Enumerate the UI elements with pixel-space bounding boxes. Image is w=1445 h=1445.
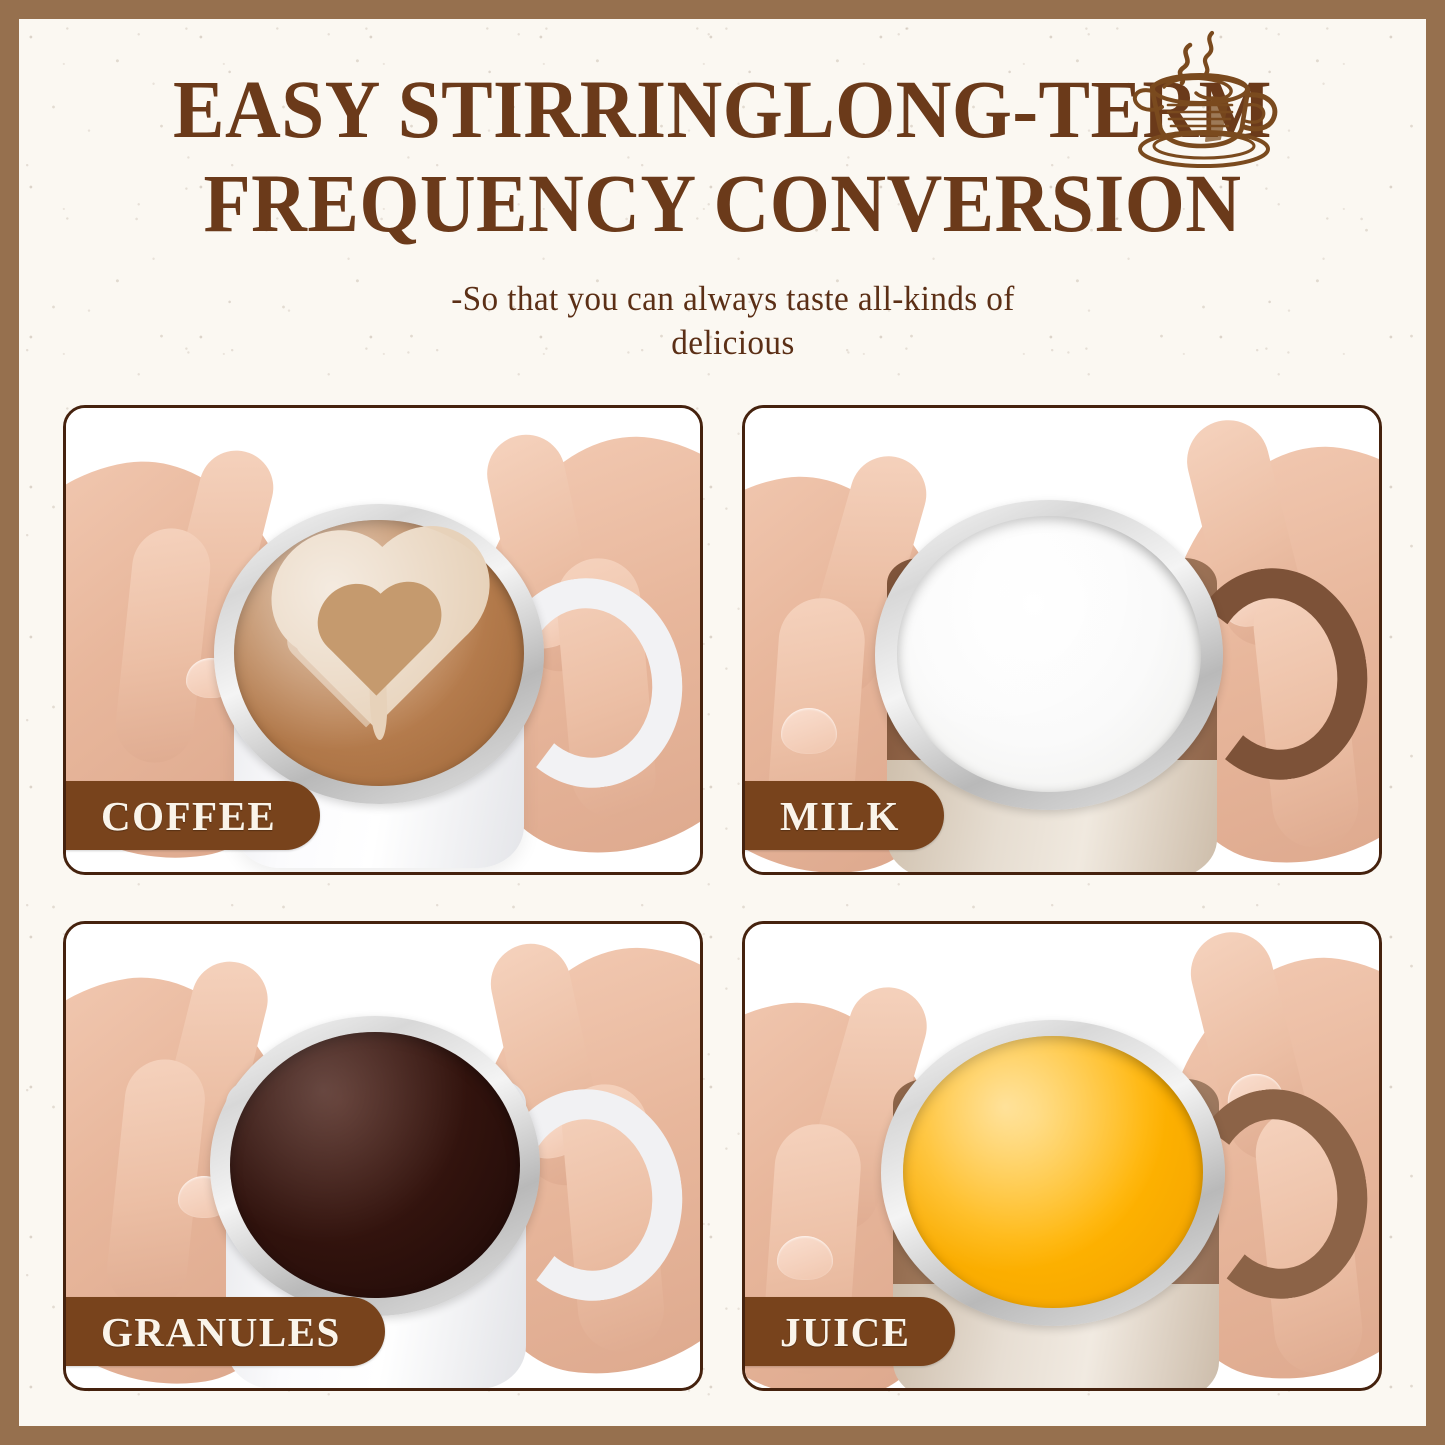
mug-liquid-surface <box>230 1032 520 1298</box>
badge-label: JUICE <box>780 1308 911 1356</box>
mug-liquid-surface <box>897 516 1201 792</box>
badge-label: MILK <box>780 792 900 840</box>
subtitle: -So that you can always taste all-kinds … <box>391 277 1075 365</box>
mug-liquid-surface <box>234 520 524 786</box>
badge-label: GRANULES <box>101 1308 341 1356</box>
feature-card-coffee[interactable]: COFFEE <box>63 405 703 875</box>
fingernail <box>781 708 837 754</box>
mug-liquid-surface <box>903 1036 1203 1308</box>
subtitle-wrapper: -So that you can always taste all-kinds … <box>19 277 1426 365</box>
feature-card-milk[interactable]: MILK <box>742 405 1382 875</box>
status-badge: JUICE <box>742 1297 955 1366</box>
fingernail <box>777 1236 833 1280</box>
poster-header: EASY STIRRINGLONG-TERM FREQUENCY CONVERS… <box>19 19 1426 365</box>
status-badge: GRANULES <box>63 1297 385 1366</box>
poster-paper-background: EASY STIRRINGLONG-TERM FREQUENCY CONVERS… <box>19 19 1426 1426</box>
product-infographic-poster: EASY STIRRINGLONG-TERM FREQUENCY CONVERS… <box>0 0 1445 1445</box>
status-badge: MILK <box>742 781 944 850</box>
feature-card-granules[interactable]: GRANULES <box>63 921 703 1391</box>
feature-card-grid: COFFEE <box>63 405 1382 1391</box>
coffee-cup-icon <box>1116 27 1301 172</box>
status-badge: COFFEE <box>63 781 320 850</box>
headline-line-1: EASY STIRRINGLONG-TERM <box>173 63 1272 155</box>
badge-label: COFFEE <box>101 792 276 840</box>
feature-card-juice[interactable]: JUICE <box>742 921 1382 1391</box>
